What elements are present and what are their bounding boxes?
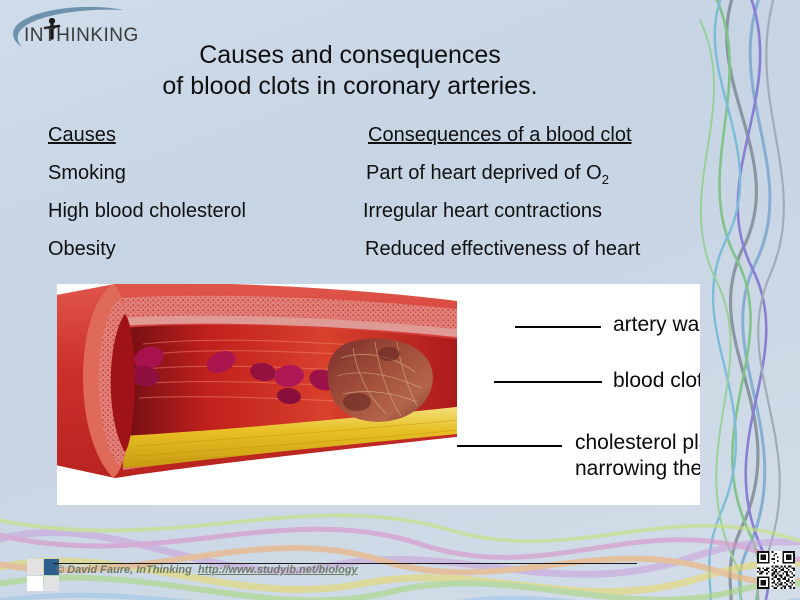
callout-cholesterol-plaque: cholesterol plaque narrowing the artery [575, 430, 700, 482]
footer-copyright: © David Faure, InThinking [56, 564, 192, 576]
leader-line-blood-clot [494, 381, 602, 383]
table-row: Obesity Reduced effectiveness of heart [48, 238, 698, 276]
callout-artery-wall: artery wall [613, 312, 700, 338]
slide: INTHINKING Causes and consequences of bl… [0, 0, 800, 600]
coronary-artery-diagram [57, 284, 457, 505]
column-header-consequences: Consequences of a blood clot [368, 124, 632, 147]
page-title: Causes and consequences of blood clots i… [0, 40, 700, 102]
causes-consequences-table: Causes Consequences of a blood clot Smok… [48, 124, 698, 276]
callout-blood-clot: blood clot [613, 368, 700, 394]
callout-plaque-line-1: cholesterol plaque [575, 431, 700, 454]
footer-url[interactable]: http://www.studyib.net/biology [198, 564, 358, 576]
leader-line-plaque [457, 445, 562, 447]
consequence-text: Part of heart deprived of O [366, 162, 602, 184]
callout-plaque-line-2: narrowing the artery [575, 457, 700, 480]
subscript-2: 2 [602, 172, 609, 187]
mark-square-bottom-right [44, 576, 60, 592]
table-header-row: Causes Consequences of a blood clot [48, 124, 698, 162]
cause-cell: High blood cholesterol [48, 200, 246, 223]
artery-figure-panel: artery wall blood clot cholesterol plaqu… [57, 284, 700, 505]
qr-code-icon[interactable] [757, 551, 795, 589]
column-header-causes: Causes [48, 124, 116, 147]
footer-credit: © David Faure, InThinking http://www.stu… [56, 564, 358, 576]
mark-square-top-left [27, 559, 43, 575]
title-line-2: of blood clots in coronary arteries. [0, 71, 700, 102]
title-line-1: Causes and consequences [0, 40, 700, 71]
leader-line-artery-wall [515, 326, 601, 328]
mark-square-bottom-left [27, 576, 43, 592]
consequence-cell: Reduced effectiveness of heart [365, 238, 640, 261]
table-row: High blood cholesterol Irregular heart c… [48, 200, 698, 238]
table-row: Smoking Part of heart deprived of O2 [48, 162, 698, 200]
cause-cell: Obesity [48, 238, 116, 261]
consequence-cell: Part of heart deprived of O2 [366, 162, 609, 187]
cause-cell: Smoking [48, 162, 126, 185]
consequence-cell: Irregular heart contractions [363, 200, 602, 223]
